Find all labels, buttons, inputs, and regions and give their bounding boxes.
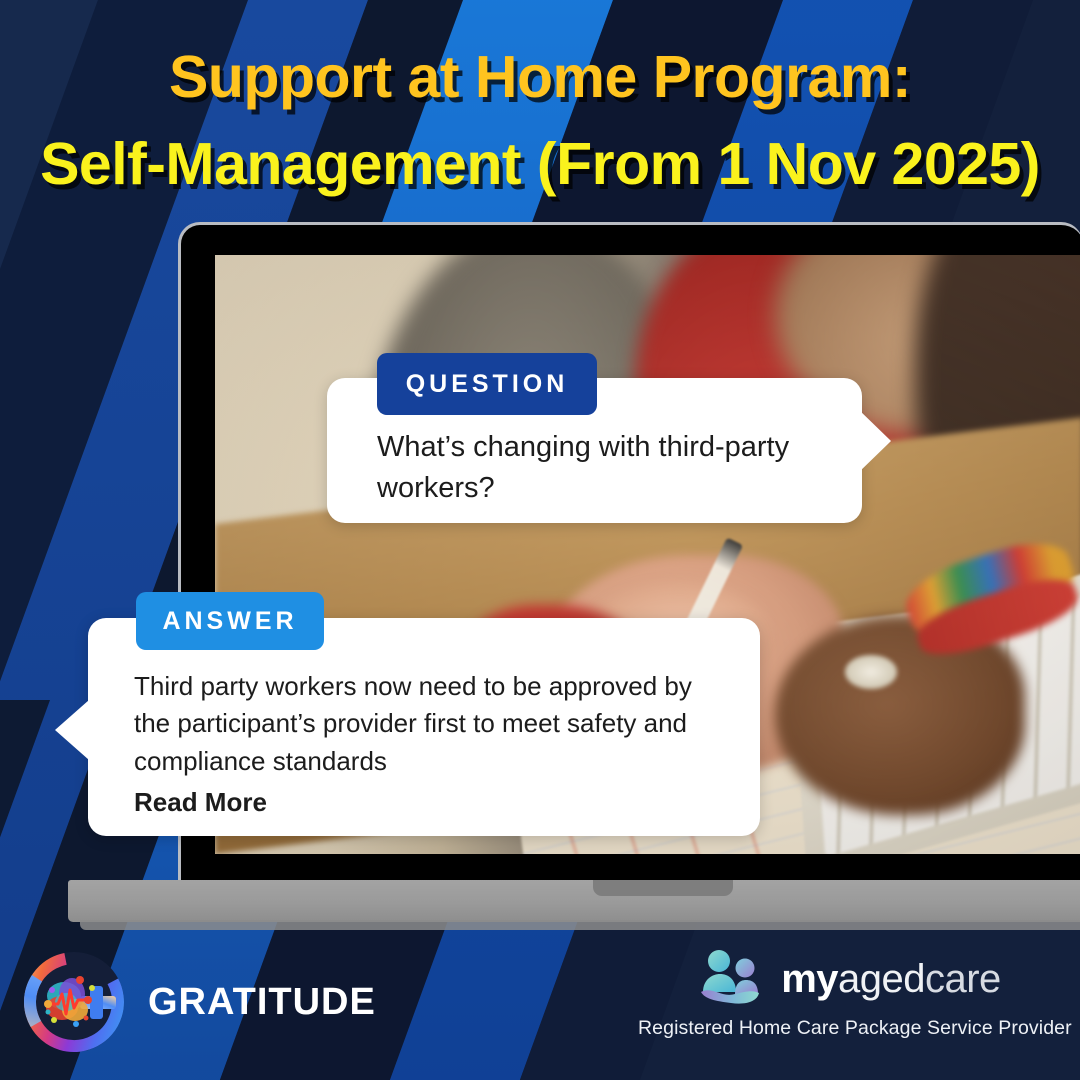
read-more-link[interactable]: Read More: [134, 784, 734, 821]
wordmark-my: my: [781, 957, 838, 1001]
myagedcare-branding: myagedcare Registered Home Care Package …: [638, 948, 1058, 1040]
poster-canvas: Support at Home Program: Self-Management…: [0, 0, 1080, 1080]
title-line-2: Self-Management (From 1 Nov 2025): [0, 135, 1080, 194]
myagedcare-logo-row: myagedcare: [638, 948, 1058, 1011]
gratitude-brand-name: GRATITUDE: [148, 981, 376, 1024]
laptop-trackpad-notch: [593, 880, 733, 896]
laptop-base: [68, 880, 1080, 922]
title-line-1: Support at Home Program:: [0, 48, 1080, 107]
gratitude-branding: GRATITUDE: [18, 946, 376, 1058]
answer-bubble-tail: [55, 700, 89, 760]
gratitude-g-logo-icon: [18, 946, 130, 1058]
laptop-base-edge: [80, 920, 1080, 930]
myagedcare-people-icon: [695, 948, 767, 1011]
question-bubble-tail: [857, 408, 891, 474]
answer-body: Third party workers now need to be appro…: [134, 671, 692, 776]
myagedcare-wordmark: myagedcare: [781, 957, 1001, 1002]
myagedcare-tagline: Registered Home Care Package Service Pro…: [638, 1017, 1058, 1040]
question-badge: QUESTION: [377, 353, 597, 415]
answer-badge: ANSWER: [136, 592, 324, 650]
question-text: What’s changing with third-party workers…: [377, 427, 847, 509]
page-title: Support at Home Program: Self-Management…: [0, 48, 1080, 194]
wordmark-aged: aged: [838, 957, 925, 1001]
wordmark-care: care: [925, 957, 1001, 1001]
answer-text: Third party workers now need to be appro…: [134, 668, 734, 822]
